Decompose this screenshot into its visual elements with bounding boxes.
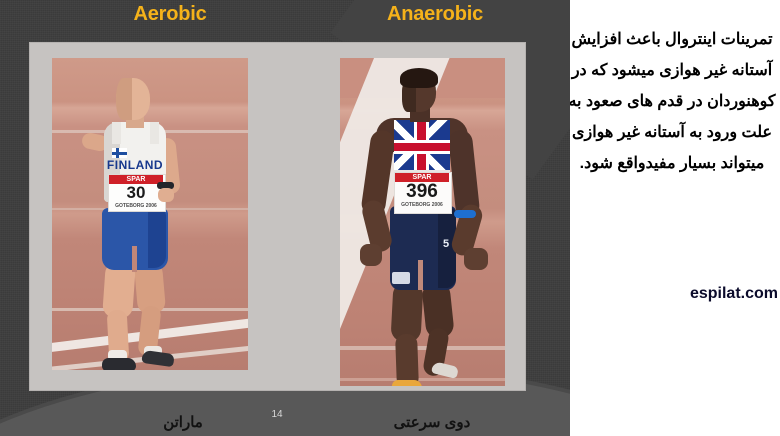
screenshot-root: Aerobic Anaerobic [0, 0, 780, 436]
runner-shorts-split [132, 246, 137, 272]
track-lane-line [340, 346, 505, 350]
runner-hand [158, 188, 174, 202]
runner-bib-number: 30 [109, 183, 163, 203]
runner-singlet-strap-left [112, 122, 121, 144]
track-lane-line [340, 378, 505, 381]
photo-marathon-runner: FINLAND SPAR 30 GOTEBORG 2006 [52, 58, 248, 370]
sprinter-left-hand [360, 244, 382, 266]
notes-panel: تمرینات اینتروال باعث افزایش آستانه غیر … [570, 0, 780, 436]
sprinter-shorts-split [418, 260, 423, 290]
notes-body-text: تمرینات اینتروال باعث افزایش آستانه غیر … [570, 24, 780, 179]
sprinter-wristband [454, 210, 476, 218]
finland-flag-icon [112, 148, 127, 158]
runner-singlet-strap-right [150, 122, 159, 144]
photo-sprinter: 5 SPAR 396 GOTEBORG 200 [340, 58, 505, 386]
sprinter-hair [400, 68, 438, 88]
caption-marathon: ماراتن [118, 413, 248, 431]
runner-left-shoe [102, 358, 136, 370]
caption-sprint: دوی سرعتی [352, 413, 512, 431]
sprinter-bib-event-text: GOTEBORG 2006 [395, 201, 449, 209]
column-title-anaerobic: Anaerobic [350, 3, 520, 26]
column-title-aerobic: Aerobic [95, 3, 245, 26]
runner-country-text: FINLAND [106, 158, 164, 173]
slide-page-number: 14 [262, 409, 292, 420]
sprinter-shorts-logo [392, 272, 410, 284]
runner-shorts-shading [148, 210, 166, 268]
notes-website-label: espilat.com [572, 285, 778, 303]
content-panel: FINLAND SPAR 30 GOTEBORG 2006 [30, 43, 525, 390]
sprinter-right-hand [464, 248, 488, 270]
sprinter-left-shoe [392, 380, 422, 386]
runner-bib-event-text: GOTEBORG 2006 [109, 202, 163, 210]
runner-head-shading [116, 78, 132, 120]
slide-area: Aerobic Anaerobic [0, 0, 570, 436]
sprinter-left-shin [395, 334, 419, 386]
sprinter-bib-number: 396 [395, 181, 449, 203]
union-jack-horizontal-red [394, 143, 450, 151]
